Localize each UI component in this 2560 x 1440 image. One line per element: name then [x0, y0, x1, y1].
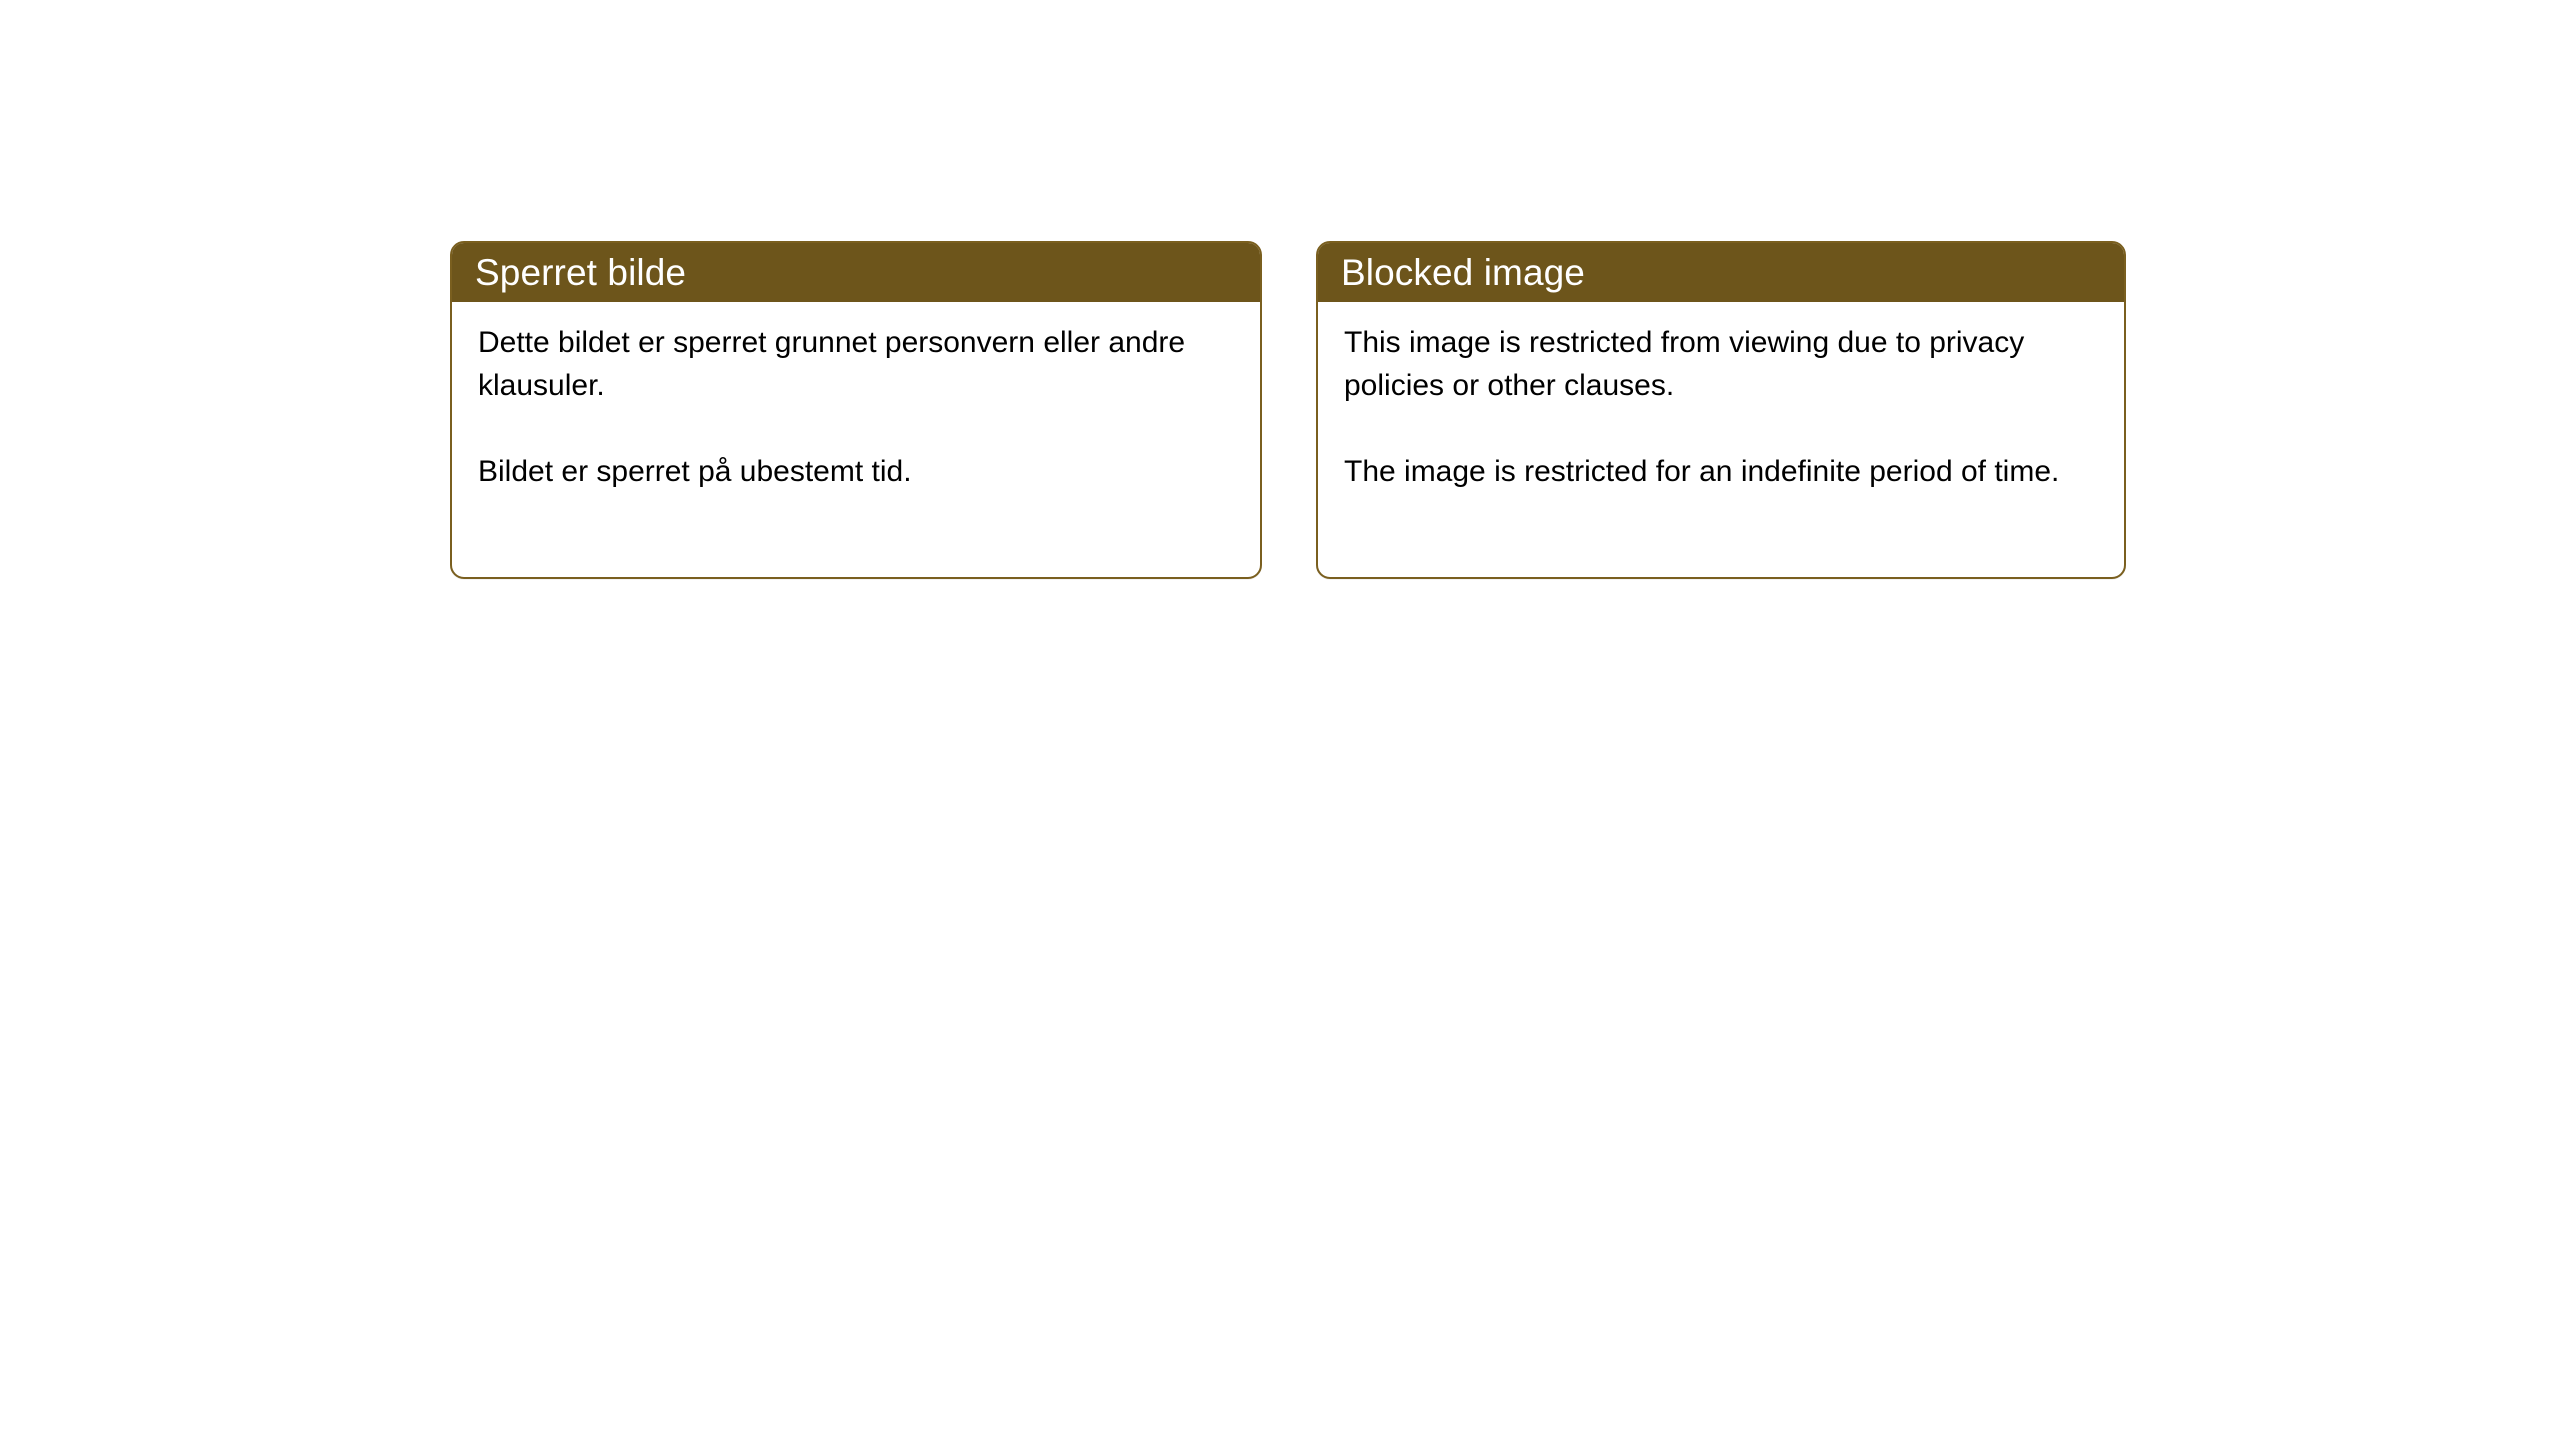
card-body-norwegian: Dette bildet er sperret grunnet personve… — [452, 302, 1260, 493]
card-paragraph-secondary-norwegian: Bildet er sperret på ubestemt tid. — [478, 450, 1236, 493]
card-header-norwegian: Sperret bilde — [452, 243, 1260, 302]
card-paragraph-secondary-english: The image is restricted for an indefinit… — [1344, 450, 2100, 493]
card-title-norwegian: Sperret bilde — [475, 254, 686, 291]
card-paragraph-primary-english: This image is restricted from viewing du… — [1344, 321, 2100, 407]
page-root: Sperret bilde Dette bildet er sperret gr… — [0, 0, 2560, 1440]
card-body-english: This image is restricted from viewing du… — [1318, 302, 2124, 493]
card-title-english: Blocked image — [1341, 254, 1585, 291]
blocked-image-card-english: Blocked image This image is restricted f… — [1316, 241, 2126, 579]
card-paragraph-primary-norwegian: Dette bildet er sperret grunnet personve… — [478, 321, 1236, 407]
blocked-image-card-norwegian: Sperret bilde Dette bildet er sperret gr… — [450, 241, 1262, 579]
card-header-english: Blocked image — [1318, 243, 2124, 302]
